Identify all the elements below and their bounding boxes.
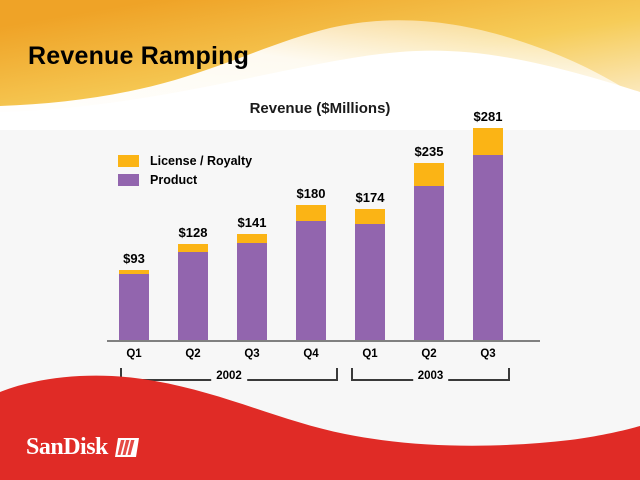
bar-2003-q2: $235 <box>414 163 444 340</box>
footer-wave-graphic <box>0 370 640 480</box>
x-tick-2002-q4: Q4 <box>288 348 334 360</box>
bar-segment-license <box>237 234 267 243</box>
bar-2002-q1: $93 <box>119 270 149 340</box>
bar-segment-license <box>414 163 444 186</box>
logo-wordmark: SanDisk <box>26 435 108 459</box>
footer-banner <box>0 370 640 480</box>
bar-2003-q1: $174 <box>355 209 385 340</box>
bar-segment-license <box>178 244 208 252</box>
bar-segment-product <box>414 186 444 340</box>
bar-segment-product <box>296 221 326 340</box>
bar-segment-license <box>473 128 503 155</box>
bar-segment-product <box>178 252 208 340</box>
bar-value-label: $180 <box>297 186 326 201</box>
bar-value-label: $235 <box>415 144 444 159</box>
bar-segment-product <box>119 274 149 340</box>
x-tick-2003-q3: Q3 <box>465 348 511 360</box>
page-title: Revenue Ramping <box>28 42 249 71</box>
x-tick-2003-q1: Q1 <box>347 348 393 360</box>
x-tick-2002-q1: Q1 <box>111 348 157 360</box>
bar-segment-product <box>473 155 503 340</box>
bar-value-label: $174 <box>356 190 385 205</box>
bar-2002-q3: $141 <box>237 234 267 340</box>
bar-2002-q2: $128 <box>178 244 208 340</box>
x-tick-2003-q2: Q2 <box>406 348 452 360</box>
bar-value-label: $128 <box>179 225 208 240</box>
x-axis-category-labels: Q1 Q2 Q3 Q4 Q1 Q2 Q3 <box>107 348 540 364</box>
x-tick-2002-q2: Q2 <box>170 348 216 360</box>
bar-segment-license <box>296 205 326 221</box>
slide-canvas: Revenue Ramping Revenue ($Millions) Lice… <box>0 0 640 480</box>
bar-2003-q3: $281 <box>473 128 503 340</box>
bar-value-label: $141 <box>238 215 267 230</box>
bar-value-label: $281 <box>474 109 503 124</box>
bar-segment-license <box>355 209 385 224</box>
bar-value-label: $93 <box>123 251 145 266</box>
chart-title: Revenue ($Millions) <box>0 100 640 117</box>
chart-plot-area: $93 $128 $141 $180 $174 $235 <box>107 120 540 342</box>
sandisk-swoosh-icon <box>115 438 139 457</box>
bar-segment-product <box>237 243 267 340</box>
sandisk-logo: SanDisk <box>26 434 139 460</box>
bar-segment-product <box>355 224 385 340</box>
x-tick-2002-q3: Q3 <box>229 348 275 360</box>
x-axis-line <box>107 340 540 342</box>
bar-2002-q4: $180 <box>296 205 326 340</box>
